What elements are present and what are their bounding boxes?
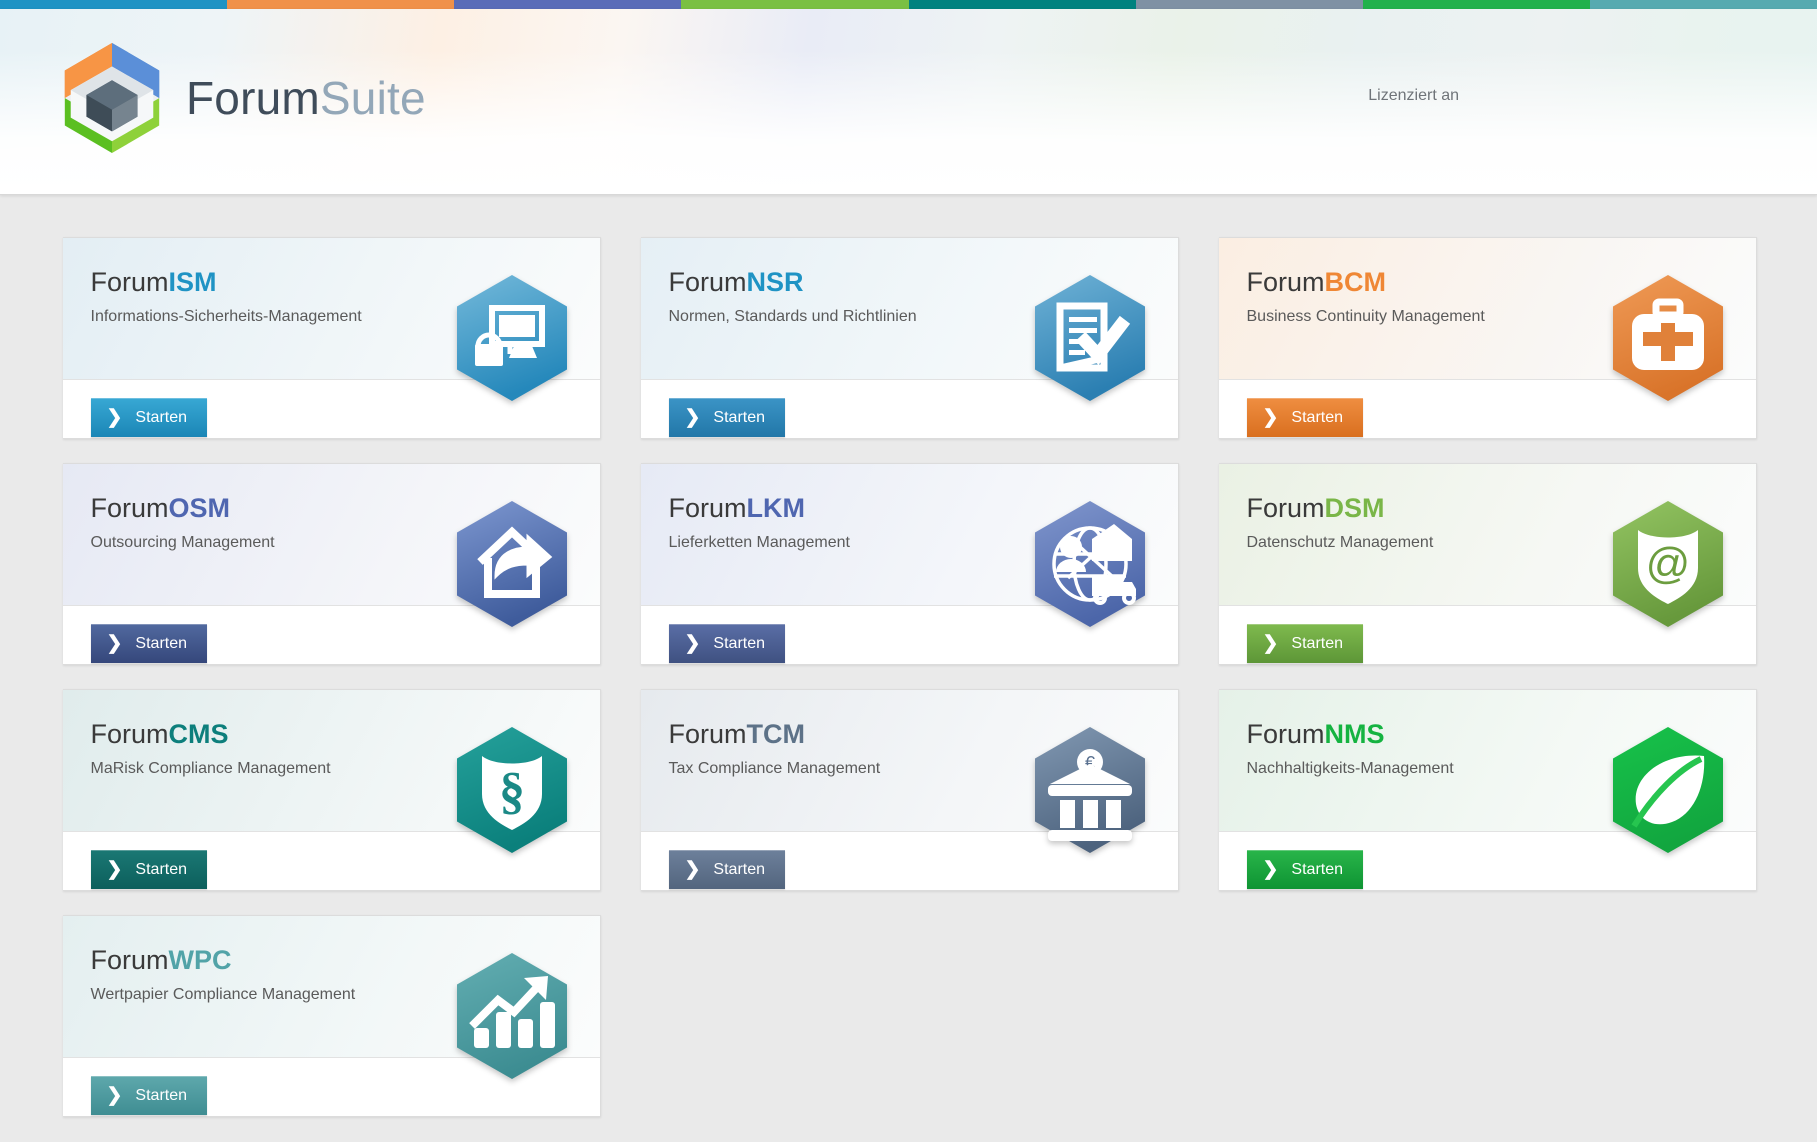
card-title-code: CMS <box>169 719 229 749</box>
chevron-right-icon: ❯ <box>1263 408 1279 427</box>
logo-text-suite: Suite <box>320 72 426 124</box>
start-button-label: Starten <box>713 861 765 879</box>
app-card-bcm[interactable]: ForumBCM Business Continuity Management … <box>1219 237 1757 439</box>
card-title-brand: Forum <box>669 493 747 523</box>
start-button-label: Starten <box>1291 861 1343 879</box>
card-title-brand: Forum <box>91 493 169 523</box>
stripe-segment-8 <box>1590 0 1817 9</box>
licensed-to-label: Lizenziert an <box>1368 87 1459 105</box>
stripe-segment-2 <box>227 0 454 9</box>
start-button[interactable]: ❯ Starten <box>669 624 786 663</box>
start-button-label: Starten <box>713 635 765 653</box>
stripe-segment-5 <box>909 0 1136 9</box>
card-title-code: NSR <box>747 267 804 297</box>
chevron-right-icon: ❯ <box>107 408 123 427</box>
svg-text:§: § <box>499 763 525 820</box>
forumsuite-hexagon-logo-icon <box>56 41 168 155</box>
start-button-label: Starten <box>135 409 187 427</box>
chevron-right-icon: ❯ <box>1263 634 1279 653</box>
card-title-code: DSM <box>1325 493 1385 523</box>
app-card-lkm[interactable]: ForumLKM Lieferketten Management ❯ Start… <box>641 463 1179 665</box>
start-button-label: Starten <box>135 635 187 653</box>
card-title-brand: Forum <box>1247 719 1325 749</box>
house-arrow-icon <box>454 500 570 628</box>
stripe-segment-1 <box>0 0 227 9</box>
shield-paragraph-icon: § <box>454 726 570 854</box>
start-button[interactable]: ❯ Starten <box>91 1076 208 1115</box>
card-title-brand: Forum <box>91 945 169 975</box>
card-title-brand: Forum <box>669 267 747 297</box>
brand-color-stripe <box>0 0 1817 9</box>
stripe-segment-4 <box>681 0 908 9</box>
chevron-right-icon: ❯ <box>107 860 123 879</box>
leaf-icon <box>1610 726 1726 854</box>
chevron-right-icon: ❯ <box>1263 860 1279 879</box>
app-cards-grid: ForumISM Informations-Sicherheits-Manage… <box>63 237 1755 1117</box>
stripe-segment-6 <box>1136 0 1363 9</box>
chevron-right-icon: ❯ <box>685 634 701 653</box>
bar-chart-arrow-icon <box>454 952 570 1080</box>
start-button-label: Starten <box>135 861 187 879</box>
start-button-label: Starten <box>1291 635 1343 653</box>
app-header: ForumSuite Lizenziert an <box>0 9 1817 195</box>
start-button[interactable]: ❯ Starten <box>91 850 208 889</box>
logo-wordmark: ForumSuite <box>186 75 426 121</box>
app-card-ism[interactable]: ForumISM Informations-Sicherheits-Manage… <box>63 237 601 439</box>
card-title-code: TCM <box>747 719 805 749</box>
monitor-lock-icon <box>454 274 570 402</box>
app-card-wpc[interactable]: ForumWPC Wertpapier Compliance Managemen… <box>63 915 601 1117</box>
stripe-segment-3 <box>454 0 681 9</box>
start-button[interactable]: ❯ Starten <box>1247 624 1364 663</box>
card-title-code: LKM <box>747 493 805 523</box>
svg-text:@: @ <box>1645 539 1690 588</box>
app-tiles-area: ForumISM Informations-Sicherheits-Manage… <box>0 195 1817 1142</box>
app-card-cms[interactable]: ForumCMS MaRisk Compliance Management ❯ … <box>63 689 601 891</box>
start-button-label: Starten <box>135 1087 187 1105</box>
start-button[interactable]: ❯ Starten <box>669 850 786 889</box>
card-title-code: WPC <box>169 945 232 975</box>
start-button[interactable]: ❯ Starten <box>1247 398 1364 437</box>
card-title-brand: Forum <box>1247 493 1325 523</box>
start-button[interactable]: ❯ Starten <box>1247 850 1364 889</box>
document-check-icon <box>1032 274 1148 402</box>
first-aid-kit-icon <box>1610 274 1726 402</box>
logo-text-forum: Forum <box>186 72 320 124</box>
shield-at-icon: @ <box>1610 500 1726 628</box>
stripe-segment-7 <box>1363 0 1590 9</box>
start-button-label: Starten <box>713 409 765 427</box>
chevron-right-icon: ❯ <box>685 408 701 427</box>
app-card-nsr[interactable]: ForumNSR Normen, Standards und Richtlini… <box>641 237 1179 439</box>
card-title-brand: Forum <box>91 267 169 297</box>
app-card-osm[interactable]: ForumOSM Outsourcing Management ❯ Starte… <box>63 463 601 665</box>
card-title-code: ISM <box>169 267 217 297</box>
card-title-code: NMS <box>1325 719 1385 749</box>
card-title-code: BCM <box>1325 267 1387 297</box>
app-card-nms[interactable]: ForumNMS Nachhaltigkeits-Management ❯ St… <box>1219 689 1757 891</box>
forumsuite-logo[interactable]: ForumSuite <box>56 41 426 155</box>
card-title-code: OSM <box>169 493 231 523</box>
chevron-right-icon: ❯ <box>107 634 123 653</box>
globe-supplychain-icon <box>1032 500 1148 628</box>
start-button[interactable]: ❯ Starten <box>91 398 208 437</box>
card-title-brand: Forum <box>91 719 169 749</box>
app-card-tcm[interactable]: ForumTCM Tax Compliance Management ❯ Sta… <box>641 689 1179 891</box>
card-title-brand: Forum <box>1247 267 1325 297</box>
card-title-brand: Forum <box>669 719 747 749</box>
start-button[interactable]: ❯ Starten <box>91 624 208 663</box>
start-button-label: Starten <box>1291 409 1343 427</box>
chevron-right-icon: ❯ <box>685 860 701 879</box>
chevron-right-icon: ❯ <box>107 1086 123 1105</box>
start-button[interactable]: ❯ Starten <box>669 398 786 437</box>
bank-euro-icon: € <box>1032 726 1148 854</box>
app-card-dsm[interactable]: ForumDSM Datenschutz Management ❯ Starte… <box>1219 463 1757 665</box>
